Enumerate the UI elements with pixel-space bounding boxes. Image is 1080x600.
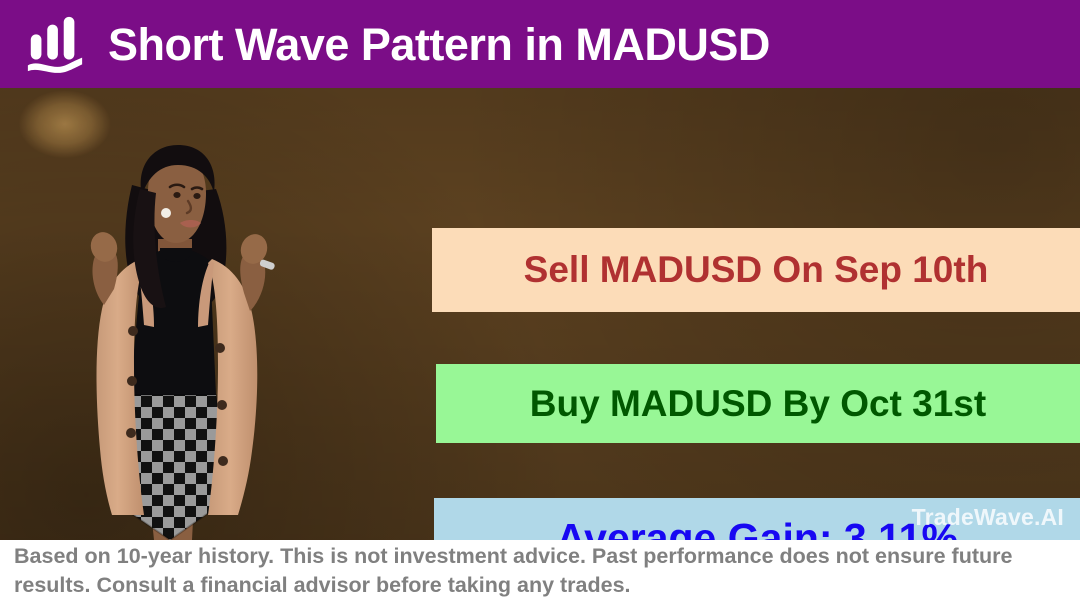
- callout-average-gain-text: Average Gain: 3.11%: [556, 515, 958, 541]
- header-bar: Short Wave Pattern in MADUSD: [0, 0, 1080, 88]
- hero-photo: Sell MADUSD On Sep 10th Buy MADUSD By Oc…: [0, 88, 1080, 540]
- callout-sell-text: Sell MADUSD On Sep 10th: [524, 249, 989, 291]
- callout-sell: Sell MADUSD On Sep 10th: [432, 228, 1080, 312]
- callout-buy: Buy MADUSD By Oct 31st: [436, 364, 1080, 443]
- wave-bars-logo-icon: [24, 13, 86, 75]
- watermark: TradeWave.AI: [912, 504, 1064, 531]
- disclaimer-footer: Based on 10-year history. This is not in…: [0, 540, 1080, 600]
- callout-buy-text: Buy MADUSD By Oct 31st: [530, 383, 986, 425]
- page-title: Short Wave Pattern in MADUSD: [108, 22, 770, 67]
- promo-graphic: Short Wave Pattern in MADUSD: [0, 0, 1080, 600]
- person-photo: [20, 143, 320, 540]
